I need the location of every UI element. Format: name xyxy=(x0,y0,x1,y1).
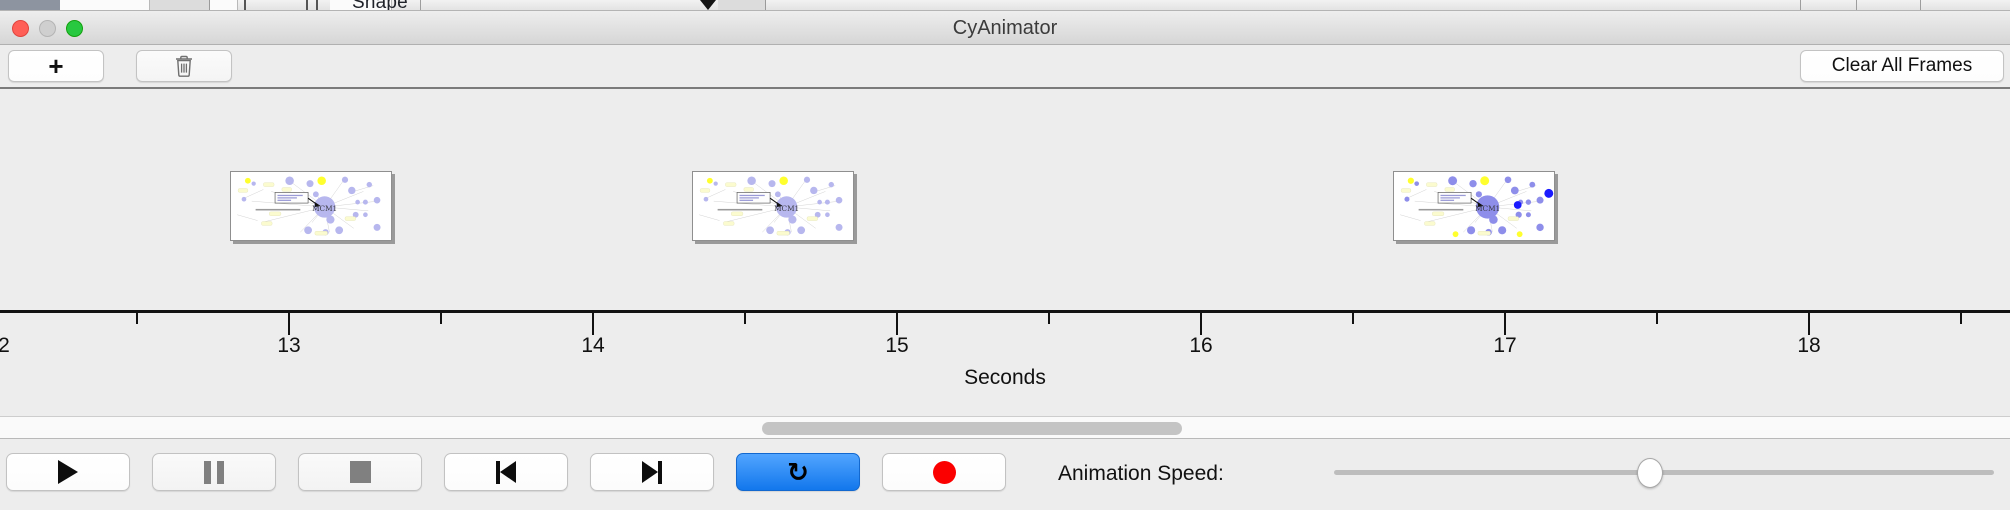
axis-minor-tick xyxy=(1048,313,1050,324)
svg-text:MCM1: MCM1 xyxy=(1475,204,1500,213)
axis-major-tick xyxy=(288,313,290,335)
window-title: CyAnimator xyxy=(0,11,2010,45)
axis-minor-tick xyxy=(744,313,746,324)
scrollbar-thumb[interactable] xyxy=(762,422,1182,435)
trash-icon xyxy=(173,54,195,78)
axis-line xyxy=(0,310,2010,313)
record-button[interactable] xyxy=(882,453,1006,491)
stop-button[interactable] xyxy=(298,453,422,491)
axis-minor-tick xyxy=(1656,313,1658,324)
timeline-frame-thumbnail[interactable]: MCM1 xyxy=(1393,171,1555,241)
axis-tick-label: 17 xyxy=(1493,334,1516,358)
axis-major-tick xyxy=(896,313,898,335)
animation-speed-slider-thumb[interactable] xyxy=(1637,458,1663,488)
skip-next-icon xyxy=(642,461,662,484)
next-frame-button[interactable] xyxy=(590,453,714,491)
bg-tick-mark xyxy=(244,0,246,11)
bg-tick-mark xyxy=(306,0,308,11)
svg-text:MCM1: MCM1 xyxy=(312,204,337,213)
timeline-frame-thumbnail[interactable]: MCM1 xyxy=(692,171,854,241)
bg-fragment xyxy=(150,0,210,11)
timeline-horizontal-scrollbar[interactable] xyxy=(0,416,2010,439)
title-bar: CyAnimator xyxy=(0,11,2010,45)
axis-minor-tick xyxy=(1352,313,1354,324)
clear-all-frames-label: Clear All Frames xyxy=(1832,55,1972,77)
previous-frame-button[interactable] xyxy=(444,453,568,491)
axis-tick-label: 2 xyxy=(0,334,10,358)
delete-frame-button[interactable] xyxy=(136,50,232,82)
axis-major-tick xyxy=(1200,313,1202,335)
axis-title: Seconds xyxy=(0,366,2010,390)
timeline-axis: 2 13 14 15 16 17 18 Seconds xyxy=(0,242,2010,362)
playback-controls-bar: ↻ Animation Speed: xyxy=(0,440,2010,510)
animation-speed-slider[interactable] xyxy=(1334,470,1994,475)
pause-icon xyxy=(204,461,224,484)
axis-tick-label: 14 xyxy=(581,334,604,358)
bg-fragment-dark xyxy=(0,0,60,11)
bg-fragment xyxy=(210,0,238,11)
axis-minor-tick xyxy=(440,313,442,324)
skip-previous-icon xyxy=(496,461,516,484)
plus-icon: + xyxy=(48,53,63,79)
frames-area: MCM1 xyxy=(0,89,2010,242)
bg-divider xyxy=(1800,0,1801,11)
svg-text:MCM1: MCM1 xyxy=(774,204,799,213)
bg-divider xyxy=(1920,0,1921,11)
bg-cursor-arrow-icon xyxy=(700,0,716,10)
axis-minor-tick xyxy=(1960,313,1962,324)
axis-tick-label: 13 xyxy=(277,334,300,358)
stop-icon xyxy=(350,461,371,483)
record-icon xyxy=(933,461,956,484)
network-graph-thumbnail: MCM1 xyxy=(1394,172,1554,240)
loop-button[interactable]: ↻ xyxy=(736,453,860,491)
animation-speed-label: Animation Speed: xyxy=(1058,462,1224,486)
axis-minor-tick xyxy=(136,313,138,324)
bg-divider xyxy=(420,0,421,11)
clear-all-frames-button[interactable]: Clear All Frames xyxy=(1800,50,2004,82)
network-graph-thumbnail: MCM1 xyxy=(231,172,391,240)
background-shape-label: Shape xyxy=(352,0,408,11)
play-button[interactable] xyxy=(6,453,130,491)
loop-icon: ↻ xyxy=(787,459,809,485)
toolbar: + Clear All Frames xyxy=(0,45,2010,87)
bg-fragment xyxy=(60,0,150,11)
axis-major-tick xyxy=(1808,313,1810,335)
axis-major-tick xyxy=(592,313,594,335)
cyanimator-window: Shape CyAnimator + Clear All Frames xyxy=(0,0,2010,510)
axis-tick-label: 15 xyxy=(885,334,908,358)
background-window-strip: Shape xyxy=(0,0,2010,11)
play-icon xyxy=(58,460,78,484)
add-frame-button[interactable]: + xyxy=(8,50,104,82)
pause-button[interactable] xyxy=(152,453,276,491)
bg-divider xyxy=(1856,0,1857,11)
axis-major-tick xyxy=(1504,313,1506,335)
timeline-frame-thumbnail[interactable]: MCM1 xyxy=(230,171,392,241)
axis-tick-label: 18 xyxy=(1797,334,1820,358)
bg-fragment xyxy=(718,0,766,11)
network-graph-thumbnail: MCM1 xyxy=(693,172,853,240)
axis-tick-label: 16 xyxy=(1189,334,1212,358)
bg-tick-mark xyxy=(316,0,318,11)
timeline-panel[interactable]: MCM1 xyxy=(0,87,2010,416)
